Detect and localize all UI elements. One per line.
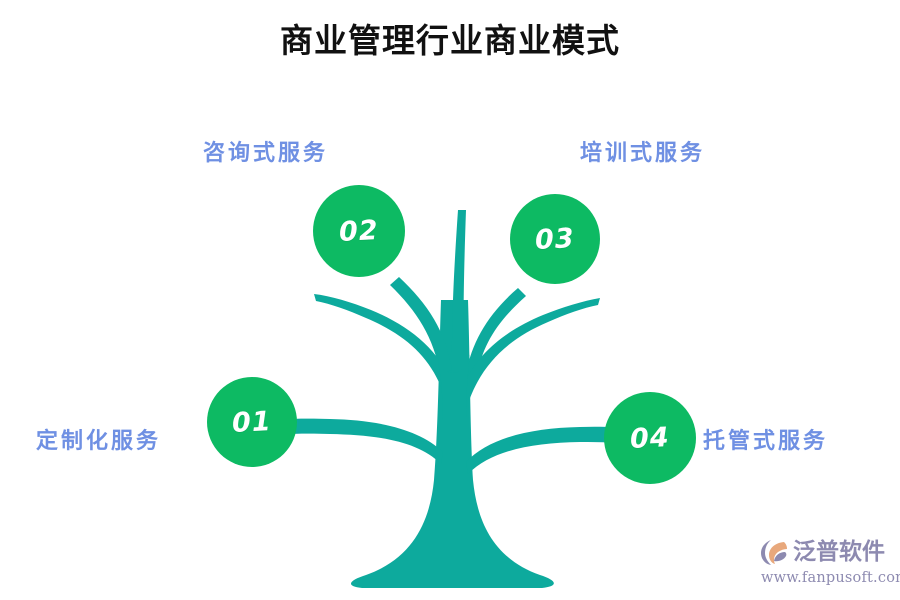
brand-name: 泛普软件 — [793, 541, 885, 564]
brand-row: 泛普软件 — [760, 536, 892, 568]
node-03[interactable]: 03 — [510, 194, 600, 284]
node-01-label: 定制化服务 — [36, 423, 161, 455]
node-03-number: 03 — [534, 222, 575, 255]
node-04-number: 04 — [629, 421, 670, 454]
node-02-label: 咨询式服务 — [203, 135, 328, 167]
node-04[interactable]: 04 — [604, 392, 696, 484]
node-02-number: 02 — [338, 214, 379, 247]
tree-shape — [252, 210, 652, 588]
node-03-label: 培训式服务 — [580, 135, 705, 167]
brand-url: www.fanpusoft.com — [760, 570, 892, 586]
node-02[interactable]: 02 — [313, 185, 405, 277]
node-01[interactable]: 01 — [207, 377, 297, 467]
diagram-canvas: 商业管理行业商业模式 01 定制化服务 — [0, 0, 900, 600]
brand-logo[interactable]: 泛普软件 www.fanpusoft.com — [760, 536, 892, 590]
fanpu-leaf-icon — [760, 538, 790, 566]
node-04-label: 托管式服务 — [703, 423, 828, 455]
tree-illustration — [0, 0, 900, 600]
node-01-number: 01 — [231, 405, 272, 438]
